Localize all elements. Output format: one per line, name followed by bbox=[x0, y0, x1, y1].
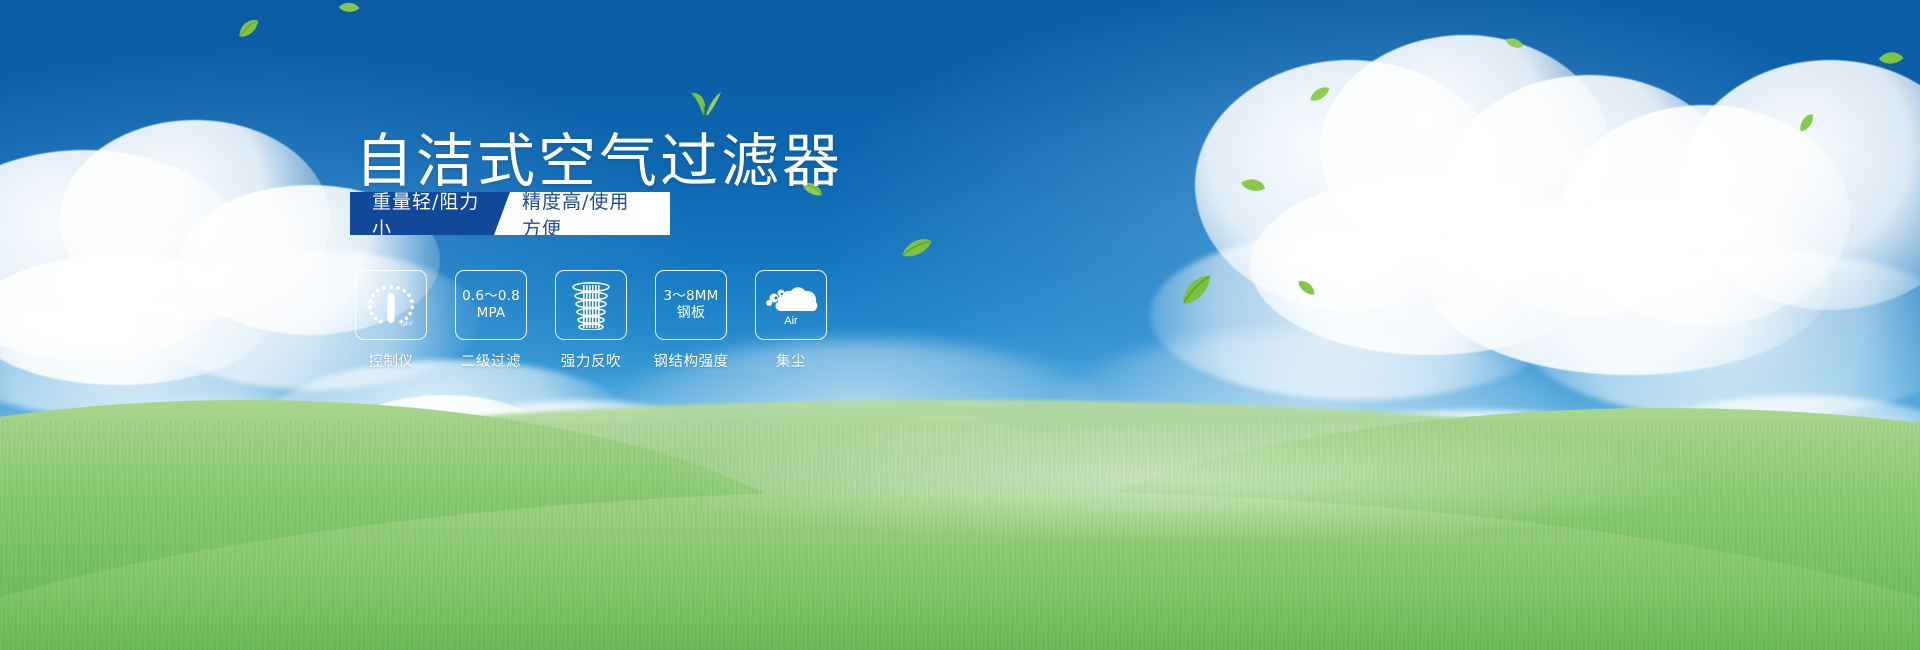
feature-icon-box: NO OFF bbox=[355, 270, 427, 340]
hero-banner: 自洁式空气过滤器 重量轻/阻力小 精度高/使用方便 bbox=[0, 0, 1920, 650]
feature-icon-box: Air bbox=[755, 270, 827, 340]
feature-powerful-backblow[interactable]: 强力反吹 bbox=[555, 270, 627, 371]
feature-list: NO OFF 控制仪 0.6～0.8 MPA 二级过滤 bbox=[355, 270, 827, 371]
svg-text:NO: NO bbox=[367, 303, 376, 309]
page-title: 自洁式空气过滤器 bbox=[355, 114, 843, 198]
pressure-range-text: 0.6～0.8 bbox=[462, 288, 520, 305]
gauge-switch-icon: NO OFF bbox=[365, 280, 417, 330]
feature-controller[interactable]: NO OFF 控制仪 bbox=[355, 270, 427, 371]
steel-plate-text: 钢板 bbox=[677, 305, 705, 322]
air-label: Air bbox=[784, 315, 798, 327]
backblow-coil-icon bbox=[568, 280, 614, 330]
pressure-unit-text: MPA bbox=[477, 305, 506, 322]
feature-steel-structure-strength[interactable]: 3～8MM 钢板 钢结构强度 bbox=[655, 270, 727, 371]
feature-tabs: 重量轻/阻力小 精度高/使用方便 bbox=[350, 192, 670, 235]
feature-icon-box: 0.6～0.8 MPA bbox=[455, 270, 527, 340]
feature-icon-box: 3～8MM 钢板 bbox=[655, 270, 727, 340]
feature-label: 强力反吹 bbox=[561, 350, 621, 371]
banner-content: 自洁式空气过滤器 重量轻/阻力小 精度高/使用方便 bbox=[0, 0, 1920, 650]
feature-two-stage-filtration[interactable]: 0.6～0.8 MPA 二级过滤 bbox=[455, 270, 527, 371]
feature-label: 集尘 bbox=[776, 350, 806, 371]
dust-cloud-icon: Air bbox=[762, 282, 820, 328]
tab-lightweight-low-resistance[interactable]: 重量轻/阻力小 bbox=[350, 192, 510, 235]
feature-dust-collection[interactable]: Air 集尘 bbox=[755, 270, 827, 371]
feature-label: 钢结构强度 bbox=[653, 350, 729, 371]
feature-icon-box bbox=[555, 270, 627, 340]
steel-thickness-text: 3～8MM bbox=[664, 288, 719, 305]
feature-label: 控制仪 bbox=[368, 350, 413, 371]
feature-label: 二级过滤 bbox=[461, 350, 521, 371]
svg-text:OFF: OFF bbox=[401, 322, 413, 328]
tab-high-precision-easy-use[interactable]: 精度高/使用方便 bbox=[494, 192, 670, 235]
